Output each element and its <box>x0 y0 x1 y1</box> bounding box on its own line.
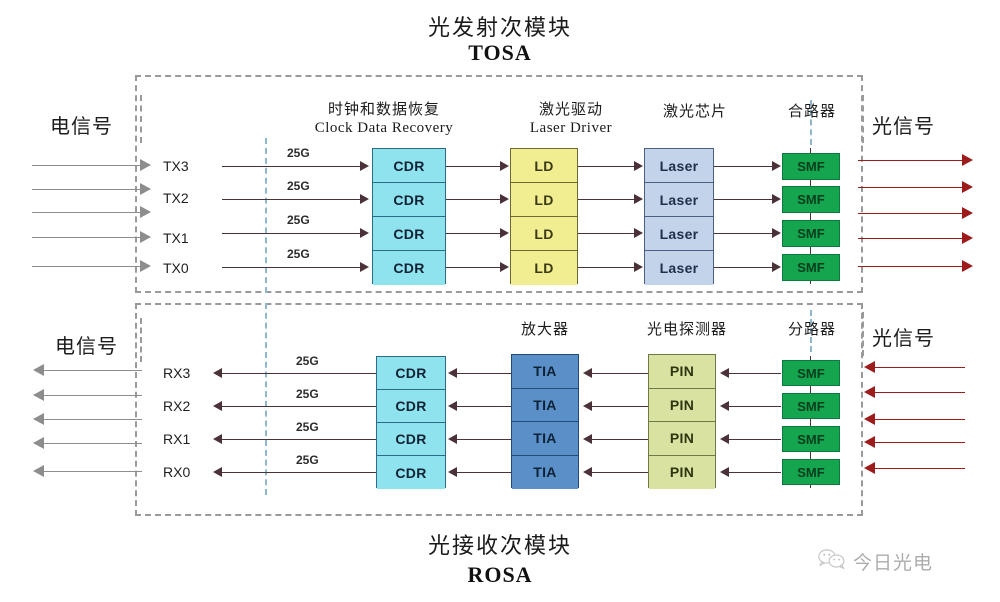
rosa-left-label: 电信号 <box>55 330 118 359</box>
rosa-optical-in-arrow <box>864 386 875 398</box>
tosa-cdr-cell: CDR <box>373 217 445 251</box>
rosa-tia-cdr-line <box>457 439 511 440</box>
tosa-ld-laser-arrow <box>634 194 643 204</box>
tosa-input-line <box>32 189 142 190</box>
rosa-cdr-cell: CDR <box>377 456 445 489</box>
rosa-optical-in-arrow <box>864 413 875 425</box>
tosa-input-arrow <box>140 159 151 171</box>
tosa-ld-cell: LD <box>511 251 577 285</box>
port-tx2: TX2 <box>163 190 189 206</box>
rosa-pin-cell: PIN <box>649 456 715 490</box>
rosa-pin-tia-arrow <box>583 467 592 477</box>
rosa-pin-tia-arrow <box>583 434 592 444</box>
rosa-smf-block: SMF <box>782 426 840 452</box>
tosa-left-label: 电信号 <box>50 110 113 139</box>
rosa-tia-cdr-arrow <box>448 368 457 378</box>
tosa-laser-smf-line <box>714 166 776 167</box>
rosa-output-line <box>44 370 142 371</box>
tosa-cdr-ld-arrow <box>500 161 509 171</box>
rosa-pin-cell: PIN <box>649 389 715 423</box>
tosa-optical-out-line <box>858 187 964 188</box>
port-rx3: RX3 <box>163 365 190 381</box>
rate-rx2: 25G <box>296 387 319 401</box>
rosa-tia-cell: TIA <box>512 389 578 423</box>
diagram-canvas: 光发射次模块 TOSA 电信号 光信号 时钟和数据恢复 Clock Data R… <box>0 0 1000 602</box>
rosa-tia-cell: TIA <box>512 456 578 490</box>
caption-combiner-cn: 合路器 <box>762 100 862 121</box>
tosa-ld-laser-line <box>578 166 636 167</box>
rosa-output-arrow <box>33 389 44 401</box>
port-tx0: TX0 <box>163 260 189 276</box>
rosa-optical-in-line <box>875 442 965 443</box>
rosa-row-line <box>222 373 376 374</box>
rosa-output-line <box>44 395 142 396</box>
rosa-cdr-cell: CDR <box>377 390 445 423</box>
rosa-output-arrow <box>33 437 44 449</box>
tosa-ld-laser-line <box>578 267 636 268</box>
tosa-cdr-ld-line <box>446 166 502 167</box>
rosa-tia-stack: TIA TIA TIA TIA <box>511 354 579 488</box>
tosa-cdr-ld-arrow <box>500 228 509 238</box>
tosa-input-arrow <box>140 183 151 195</box>
port-tx3: TX3 <box>163 158 189 174</box>
rosa-cdr-cell: CDR <box>377 357 445 390</box>
tosa-cdr-ld-arrow <box>500 194 509 204</box>
tosa-ld-laser-line <box>578 233 636 234</box>
rosa-pin-tia-line <box>592 472 648 473</box>
tosa-ld-laser-arrow <box>634 228 643 238</box>
tosa-row-arrow <box>360 262 369 272</box>
rosa-row-line <box>222 439 376 440</box>
rosa-smf-block: SMF <box>782 360 840 386</box>
rosa-tia-cdr-arrow <box>448 467 457 477</box>
tosa-cdr-ld-line <box>446 267 502 268</box>
rosa-tia-cdr-line <box>457 406 511 407</box>
wechat-icon <box>818 548 846 575</box>
tosa-input-line <box>32 165 142 166</box>
caption-combiner: 合路器 <box>762 100 862 121</box>
tosa-laser-smf-arrow <box>772 161 781 171</box>
tosa-laser-smf-line <box>714 199 776 200</box>
rosa-output-line <box>44 443 142 444</box>
tosa-cdr-ld-line <box>446 233 502 234</box>
tosa-row-arrow <box>360 194 369 204</box>
port-rx2: RX2 <box>163 398 190 414</box>
rosa-output-line <box>44 419 142 420</box>
tosa-cdr-cell: CDR <box>373 183 445 217</box>
tosa-right-label: 光信号 <box>872 110 935 139</box>
tosa-laser-stack: Laser Laser Laser Laser <box>644 148 714 284</box>
tosa-row-arrow <box>360 228 369 238</box>
tosa-cdr-cell: CDR <box>373 251 445 285</box>
rosa-smf-pin-line <box>729 472 781 473</box>
tosa-input-arrow <box>140 206 151 218</box>
caption-cdr: 时钟和数据恢复 Clock Data Recovery <box>288 98 480 137</box>
caption-splitter-cn: 分路器 <box>762 318 862 339</box>
rosa-pin-tia-arrow <box>583 401 592 411</box>
rate-tx0: 25G <box>287 247 310 261</box>
rosa-smf-pin-line <box>729 373 781 374</box>
tosa-title-en: TOSA <box>0 40 1000 66</box>
tosa-left-label-divider <box>140 95 142 143</box>
rosa-pin-stack: PIN PIN PIN PIN <box>648 354 716 488</box>
tosa-input-arrow <box>140 231 151 243</box>
caption-ld: 激光驱动 Laser Driver <box>500 98 642 137</box>
tosa-laser-smf-line <box>714 233 776 234</box>
rosa-tia-cell: TIA <box>512 422 578 456</box>
rosa-smf-pin-arrow <box>720 467 729 477</box>
tosa-cdr-stack: CDR CDR CDR CDR <box>372 148 446 284</box>
tosa-row-line <box>222 199 362 200</box>
caption-laser: 激光芯片 <box>635 100 755 121</box>
rosa-row-arrow <box>213 467 222 477</box>
tosa-smf-block: SMF <box>782 220 840 247</box>
rosa-tia-cdr-line <box>457 373 511 374</box>
tosa-optical-out-arrow <box>962 207 973 219</box>
rate-rx0: 25G <box>296 453 319 467</box>
rosa-pin-tia-line <box>592 406 648 407</box>
port-rx1: RX1 <box>163 431 190 447</box>
rosa-smf-pin-line <box>729 406 781 407</box>
rosa-right-label: 光信号 <box>872 322 935 351</box>
rosa-tia-cdr-arrow <box>448 434 457 444</box>
tosa-electrical-divider <box>265 138 267 293</box>
tosa-laser-smf-arrow <box>772 194 781 204</box>
tosa-optical-out-line <box>858 160 964 161</box>
tosa-laser-smf-arrow <box>772 228 781 238</box>
tosa-input-line <box>32 266 142 267</box>
tosa-ld-cell: LD <box>511 217 577 251</box>
rosa-optical-in-line <box>875 468 965 469</box>
rosa-pin-tia-arrow <box>583 368 592 378</box>
port-rx0: RX0 <box>163 464 190 480</box>
tosa-smf-block: SMF <box>782 254 840 281</box>
caption-cdr-cn: 时钟和数据恢复 <box>288 98 480 119</box>
caption-photodetector-cn: 光电探测器 <box>614 318 760 339</box>
caption-cdr-en: Clock Data Recovery <box>288 120 480 137</box>
rosa-row-line <box>222 406 376 407</box>
tosa-row-arrow <box>360 161 369 171</box>
tosa-input-line <box>32 212 142 213</box>
rosa-smf-pin-line <box>729 439 781 440</box>
rosa-row-line <box>222 472 376 473</box>
rosa-cdr-cell: CDR <box>377 423 445 456</box>
port-tx1: TX1 <box>163 230 189 246</box>
tosa-laser-cell: Laser <box>645 149 713 183</box>
rosa-pin-tia-line <box>592 439 648 440</box>
rosa-row-arrow <box>213 401 222 411</box>
caption-splitter: 分路器 <box>762 318 862 339</box>
tosa-optical-out-arrow <box>962 260 973 272</box>
tosa-row-line <box>222 267 362 268</box>
rosa-smf-block: SMF <box>782 393 840 419</box>
tosa-optical-out-line <box>858 266 964 267</box>
rosa-pin-cell: PIN <box>649 355 715 389</box>
rosa-cdr-stack: CDR CDR CDR CDR <box>376 356 446 488</box>
tosa-laser-smf-line <box>714 267 776 268</box>
tosa-ld-stack: LD LD LD LD <box>510 148 578 284</box>
rosa-tia-cdr-arrow <box>448 401 457 411</box>
rosa-pin-tia-line <box>592 373 648 374</box>
rosa-output-line <box>44 471 142 472</box>
rosa-smf-pin-arrow <box>720 368 729 378</box>
tosa-laser-cell: Laser <box>645 217 713 251</box>
rosa-smf-pin-arrow <box>720 401 729 411</box>
rosa-output-arrow <box>33 465 44 477</box>
tosa-ld-laser-arrow <box>634 161 643 171</box>
tosa-input-arrow <box>140 260 151 272</box>
watermark-text: 今日光电 <box>853 548 933 575</box>
rosa-optical-in-arrow <box>864 361 875 373</box>
tosa-right-label-divider <box>862 95 864 143</box>
caption-ld-en: Laser Driver <box>500 120 642 137</box>
rosa-output-arrow <box>33 364 44 376</box>
caption-photodetector: 光电探测器 <box>614 318 760 339</box>
rate-rx1: 25G <box>296 420 319 434</box>
tosa-ld-laser-arrow <box>634 262 643 272</box>
rosa-optical-in-arrow <box>864 462 875 474</box>
rosa-pin-cell: PIN <box>649 422 715 456</box>
tosa-optical-out-line <box>858 238 964 239</box>
tosa-optical-out-arrow <box>962 232 973 244</box>
rosa-right-label-divider <box>862 312 864 356</box>
caption-amplifier-cn: 放大器 <box>495 318 595 339</box>
caption-laser-cn: 激光芯片 <box>635 100 755 121</box>
tosa-row-line <box>222 233 362 234</box>
rate-rx3: 25G <box>296 354 319 368</box>
rosa-tia-cdr-line <box>457 472 511 473</box>
tosa-row-line <box>222 166 362 167</box>
caption-ld-cn: 激光驱动 <box>500 98 642 119</box>
rate-tx1: 25G <box>287 213 310 227</box>
tosa-title-cn: 光发射次模块 <box>0 10 1000 42</box>
tosa-optical-out-arrow <box>962 154 973 166</box>
rosa-optical-in-line <box>875 392 965 393</box>
tosa-laser-smf-arrow <box>772 262 781 272</box>
tosa-ld-cell: LD <box>511 183 577 217</box>
tosa-laser-cell: Laser <box>645 183 713 217</box>
tosa-optical-out-line <box>858 213 964 214</box>
tosa-input-line <box>32 237 142 238</box>
tosa-smf-block: SMF <box>782 186 840 213</box>
rosa-smf-block: SMF <box>782 459 840 485</box>
rosa-left-label-divider <box>140 318 142 362</box>
rosa-row-arrow <box>213 434 222 444</box>
tosa-cdr-ld-line <box>446 199 502 200</box>
rate-tx3: 25G <box>287 146 310 160</box>
tosa-laser-cell: Laser <box>645 251 713 285</box>
tosa-cdr-ld-arrow <box>500 262 509 272</box>
caption-amplifier: 放大器 <box>495 318 595 339</box>
rosa-optical-in-line <box>875 367 965 368</box>
tosa-smf-block: SMF <box>782 153 840 180</box>
tosa-ld-cell: LD <box>511 149 577 183</box>
rosa-optical-in-line <box>875 419 965 420</box>
rosa-tia-cell: TIA <box>512 355 578 389</box>
rate-tx2: 25G <box>287 179 310 193</box>
rosa-row-arrow <box>213 368 222 378</box>
tosa-ld-laser-line <box>578 199 636 200</box>
rosa-smf-pin-arrow <box>720 434 729 444</box>
tosa-cdr-cell: CDR <box>373 149 445 183</box>
rosa-optical-in-arrow <box>864 436 875 448</box>
tosa-optical-out-arrow <box>962 181 973 193</box>
watermark: 今日光电 <box>818 548 933 575</box>
rosa-output-arrow <box>33 413 44 425</box>
rosa-electrical-divider <box>265 303 267 495</box>
